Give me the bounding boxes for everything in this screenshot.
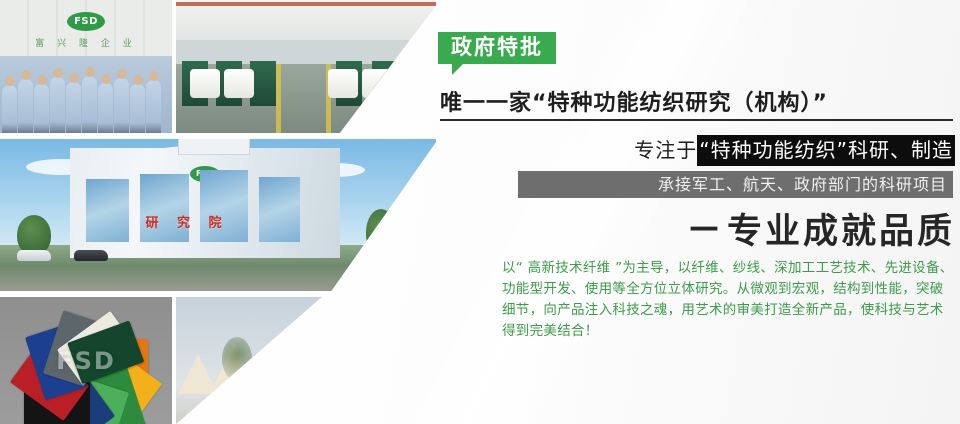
fabric-roll	[328, 69, 358, 98]
paragraph-line: 功能型开发、使用等全方位立体研究。从微观到宏观，结构到性能，突破	[502, 279, 954, 300]
hall-ceiling	[176, 0, 436, 40]
photo-collage: FSD 富 兴 隆 企 业	[0, 0, 436, 424]
photo-tent: FSD	[176, 297, 436, 424]
banner-text-block: 政府特批 唯一一家“特种功能纺织研究（机构）” 专注于“特种功能纺织”科研、制造…	[430, 0, 960, 424]
paragraph-line: 得到完美结合！	[502, 321, 954, 342]
parked-car	[17, 250, 51, 261]
fabric-roll	[190, 69, 220, 98]
parked-car	[74, 250, 108, 261]
fsd-logo-wall: FSD	[67, 12, 105, 31]
tree	[17, 215, 51, 255]
fabric-roll	[362, 69, 392, 98]
photo-team: FSD 富 兴 隆 企 业	[0, 0, 172, 133]
floor-marking	[276, 64, 281, 133]
promo-banner: FSD 富 兴 隆 企 业	[0, 0, 960, 424]
headline-secondary: 专注于“特种功能纺织”科研、制造	[440, 134, 955, 166]
roof-box	[178, 139, 250, 155]
slogan-dash: —	[689, 210, 719, 245]
headline-slogan: —专业成就品质	[440, 203, 955, 254]
headline-projects-bar: 承接军工、航天、政府部门的科研项目	[518, 171, 953, 198]
description-paragraph: 以“ 高新技术纤维 ”为主导，以纤维、纱线、深加工工艺技术、先进设备、 功能型开…	[502, 258, 954, 342]
watermark-fsd: FSD	[56, 347, 116, 375]
headline-secondary-prefix: 专注于	[634, 138, 697, 162]
headline-divider	[440, 119, 953, 121]
fabric-roll	[224, 69, 254, 98]
headline-primary: 唯一一家“特种功能纺织研究（机构）”	[440, 85, 955, 117]
government-approval-badge: 政府特批	[438, 32, 556, 64]
badge-tail-icon	[452, 64, 463, 75]
research-tower: FSD 研 究 院	[70, 148, 340, 257]
ceiling-beam	[176, 2, 436, 6]
paragraph-line: 细节，向产品注入科技之魂，用艺术的审美打造全新产品，使科技与艺术	[502, 300, 954, 321]
badge-label: 政府特批	[438, 32, 556, 64]
staff-group	[0, 56, 172, 133]
tree	[366, 209, 396, 255]
photo-swatches: FSD	[0, 297, 172, 424]
slogan-text: 专业成就品质	[727, 212, 955, 252]
headline-secondary-highlight: “特种功能纺织”科研、制造	[697, 135, 955, 166]
photo-machinery	[176, 0, 436, 133]
watermark-fsd: FSD	[250, 352, 310, 380]
paragraph-line: 以“ 高新技术纤维 ”为主导，以纤维、纱线、深加工工艺技术、先进设备、	[502, 258, 954, 279]
company-name-wall: 富 兴 隆 企 业	[35, 36, 136, 49]
building-sign: 研 究 院	[145, 212, 228, 231]
photo-building: FSD 研 究 院	[0, 139, 436, 291]
